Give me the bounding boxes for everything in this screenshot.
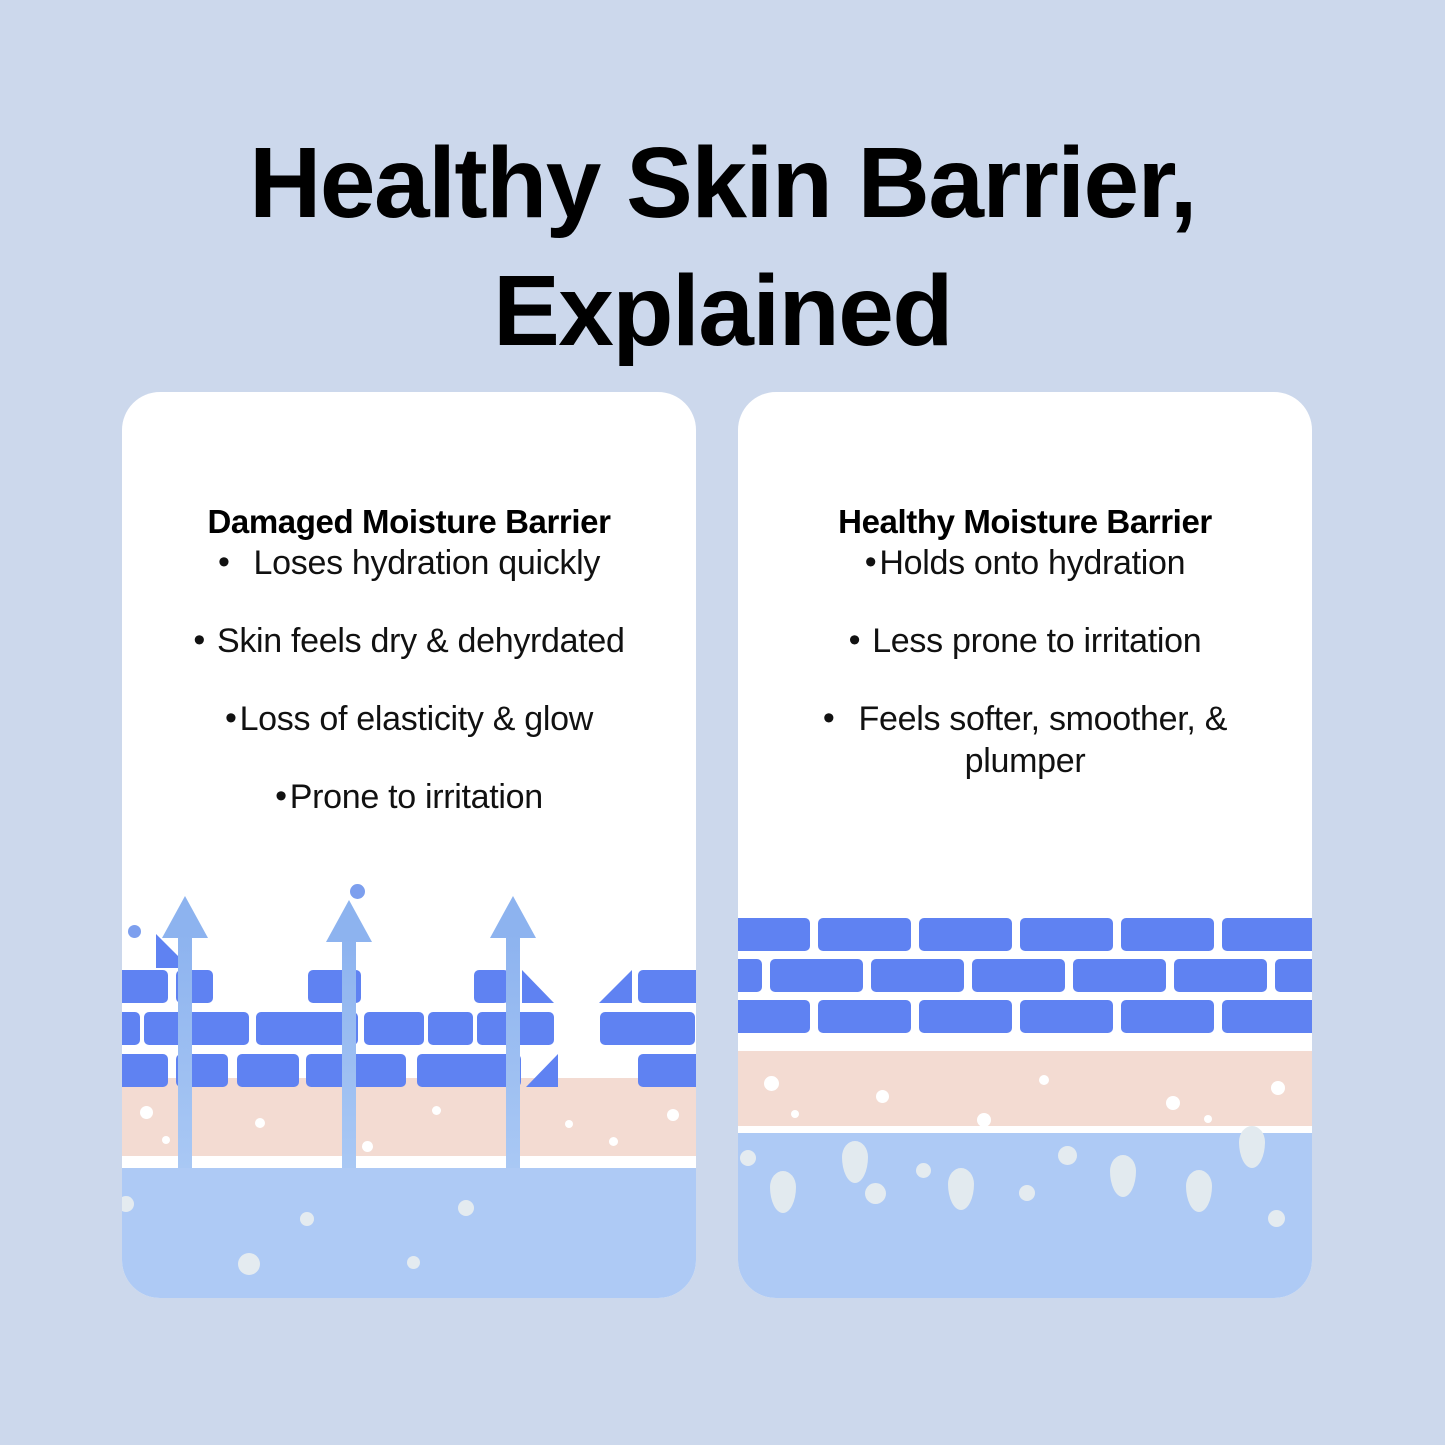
brick <box>638 1054 696 1087</box>
hydration-speck <box>300 1212 314 1226</box>
list-item-label: Holds onto hydration <box>879 544 1185 582</box>
hydration-speck <box>740 1150 756 1166</box>
hydration-speck <box>865 1183 886 1204</box>
page-title-line-2: Explained <box>0 247 1445 375</box>
hydration-speck <box>407 1256 420 1269</box>
damaged-skin-barrier-diagram <box>122 878 696 1298</box>
bullet-icon: • <box>218 542 230 582</box>
dermis-layer <box>738 1051 1312 1126</box>
arrow-head-icon <box>162 896 208 938</box>
brick <box>364 1012 424 1045</box>
card-healthy-heading: Healthy Moisture Barrier <box>738 503 1312 541</box>
brick <box>638 970 696 1003</box>
debris-dot <box>128 925 141 938</box>
bullet-icon: • <box>823 698 835 738</box>
arrow-shaft <box>342 938 356 1168</box>
list-item: •Less prone to irritation <box>750 621 1300 663</box>
hydration-speck <box>458 1200 474 1216</box>
list-item: •Skin feels dry & dehyrdated <box>134 621 684 663</box>
brick <box>738 918 810 951</box>
bullet-icon: • <box>865 542 877 582</box>
arrow-shaft <box>506 934 520 1168</box>
list-item-label: Loses hydration quickly <box>254 544 601 582</box>
moisture-speck <box>764 1076 779 1091</box>
brick <box>237 1054 299 1087</box>
moisture-speck <box>432 1106 441 1115</box>
hydration-speck <box>1268 1210 1285 1227</box>
hydration-layer <box>122 1168 696 1298</box>
list-item: •Loses hydration quickly <box>134 543 684 585</box>
brick <box>1174 959 1267 992</box>
list-item: •Feels softer, smoother, & plumper <box>750 699 1300 781</box>
brick <box>1275 959 1312 992</box>
hydration-layer <box>738 1133 1312 1298</box>
debris-dot <box>350 884 365 899</box>
brick <box>738 1000 810 1033</box>
brick <box>919 1000 1012 1033</box>
list-item: •Prone to irritation <box>134 777 684 819</box>
bullet-icon: • <box>849 620 861 660</box>
moisture-loss-arrow <box>490 896 536 1168</box>
card-damaged-bullet-list: •Loses hydration quickly •Skin feels dry… <box>134 543 684 855</box>
brick <box>428 1012 473 1045</box>
card-healthy-moisture-barrier: Healthy Moisture Barrier •Holds onto hyd… <box>738 392 1312 1298</box>
moisture-loss-arrow <box>326 900 372 1168</box>
brick <box>1073 959 1166 992</box>
card-healthy-bullet-list: •Holds onto hydration •Less prone to irr… <box>750 543 1300 817</box>
brick <box>1222 918 1312 951</box>
arrow-shaft <box>178 934 192 1168</box>
brick <box>818 1000 911 1033</box>
hydration-speck <box>1058 1146 1077 1165</box>
healthy-skin-barrier-diagram <box>738 878 1312 1298</box>
moisture-speck <box>609 1137 618 1146</box>
bullet-icon: • <box>225 698 237 738</box>
moisture-speck <box>876 1090 889 1103</box>
brick <box>1121 918 1214 951</box>
brick <box>600 1012 695 1045</box>
moisture-speck <box>791 1110 799 1118</box>
moisture-speck <box>1166 1096 1180 1110</box>
hydration-speck <box>1019 1185 1035 1201</box>
page-title: Healthy Skin Barrier, Explained <box>0 119 1445 375</box>
moisture-loss-arrow <box>162 896 208 1168</box>
moisture-speck <box>1204 1115 1212 1123</box>
list-item-label: Less prone to irritation <box>872 622 1201 660</box>
list-item-label: Prone to irritation <box>290 778 543 816</box>
moisture-speck <box>565 1120 573 1128</box>
card-damaged-heading: Damaged Moisture Barrier <box>122 503 696 541</box>
list-item-label: Feels softer, smoother, & plumper <box>859 700 1228 780</box>
broken-brick-shard <box>599 970 632 1003</box>
bullet-icon: • <box>193 620 205 660</box>
moisture-speck <box>667 1109 679 1121</box>
moisture-speck <box>255 1118 265 1128</box>
page-title-line-1: Healthy Skin Barrier, <box>0 119 1445 247</box>
brick <box>1222 1000 1312 1033</box>
brick <box>1121 1000 1214 1033</box>
list-item: •Loss of elasticity & glow <box>134 699 684 741</box>
arrow-head-icon <box>326 900 372 942</box>
brick <box>770 959 863 992</box>
brick <box>972 959 1065 992</box>
moisture-speck <box>1039 1075 1049 1085</box>
brick <box>738 959 762 992</box>
brick <box>919 918 1012 951</box>
moisture-speck <box>1271 1081 1285 1095</box>
list-item-label: Loss of elasticity & glow <box>240 700 593 738</box>
moisture-speck <box>140 1106 153 1119</box>
hydration-speck <box>238 1253 260 1275</box>
brick <box>818 918 911 951</box>
list-item: •Holds onto hydration <box>750 543 1300 585</box>
brick <box>1020 918 1113 951</box>
list-item-label: Skin feels dry & dehyrdated <box>217 622 625 660</box>
brick <box>1020 1000 1113 1033</box>
brick <box>122 1012 140 1045</box>
arrow-head-icon <box>490 896 536 938</box>
hydration-speck <box>916 1163 931 1178</box>
moisture-speck <box>977 1113 991 1127</box>
brick <box>871 959 964 992</box>
card-damaged-moisture-barrier: Damaged Moisture Barrier •Loses hydratio… <box>122 392 696 1298</box>
bullet-icon: • <box>275 776 287 816</box>
